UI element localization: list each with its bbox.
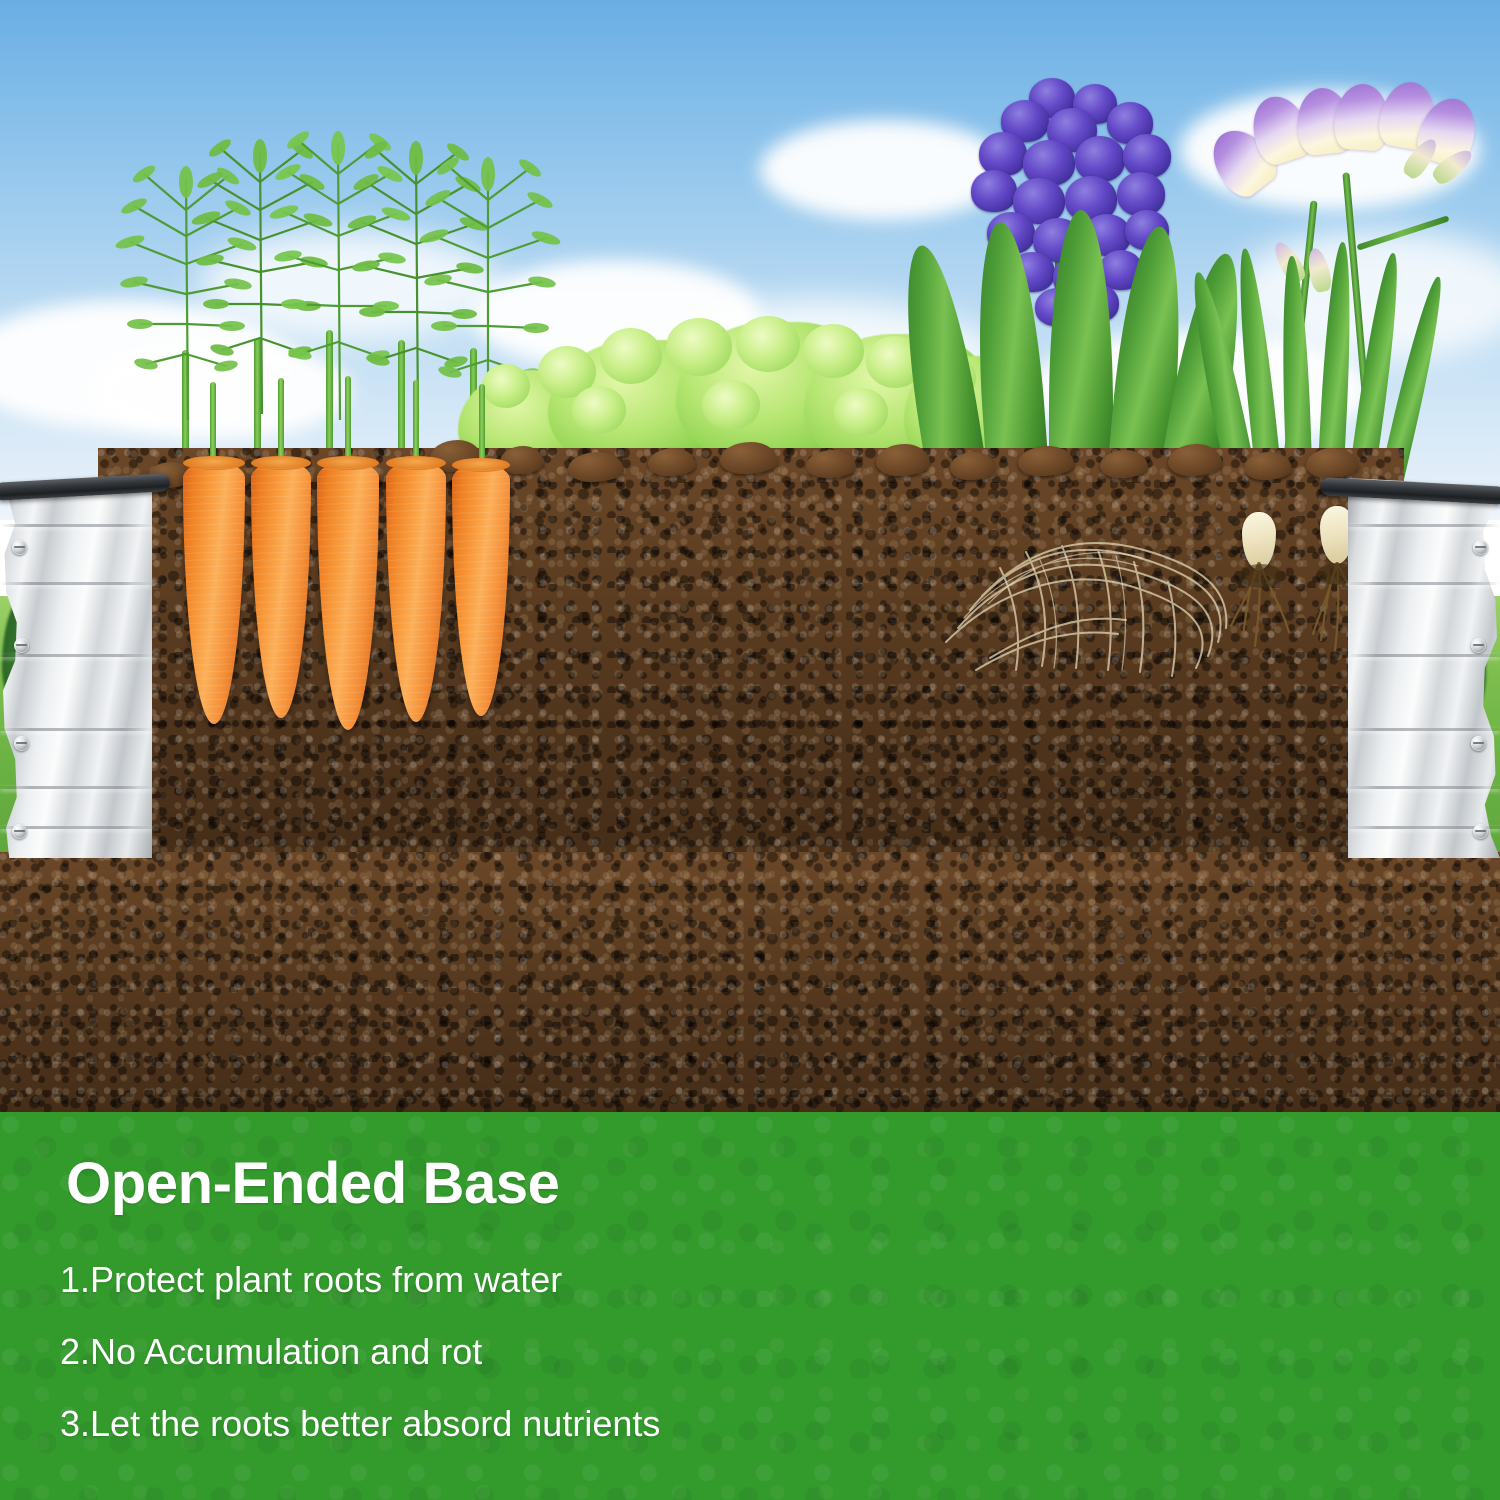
hyacinth-floret: [1075, 136, 1125, 182]
hyacinth-floret: [979, 132, 1027, 176]
soil-crumb: [1244, 452, 1292, 480]
panel-surface: [1348, 478, 1500, 858]
product-feature-image: Open-Ended Base 1.Protect plant roots fr…: [0, 0, 1500, 1500]
panel-rib: [0, 728, 152, 731]
panel-rib: [1348, 524, 1500, 527]
carrot-stem: [413, 380, 419, 466]
panel-rib: [1348, 786, 1500, 789]
panel-rib: [1348, 582, 1500, 585]
lettuce-frill: [802, 324, 864, 378]
panel-screw: [1473, 540, 1488, 555]
freesia-plant: [1205, 80, 1495, 500]
soil-crumb: [1306, 448, 1358, 478]
benefit-item-2: 2.No Accumulation and rot: [60, 1334, 1360, 1370]
lettuce-frill: [702, 380, 760, 430]
lettuce-frill: [834, 388, 888, 436]
carrot-crown: [386, 456, 446, 470]
carrot-stem: [479, 384, 485, 466]
freesia-bud: [1305, 246, 1334, 293]
hyacinth-floret: [1123, 134, 1171, 178]
lettuce-frill: [736, 316, 800, 372]
soil-crumb: [1168, 444, 1222, 476]
fibrous-root-mass: [930, 510, 1260, 690]
panel-rib: [0, 654, 152, 657]
panel-rib: [1348, 728, 1500, 731]
lettuce-frill: [572, 386, 626, 434]
benefit-item-3: 3.Let the roots better absord nutrients: [60, 1406, 1360, 1442]
panel-rib: [0, 582, 152, 585]
carrot-crown: [317, 456, 379, 470]
soil-crumb: [1100, 450, 1148, 478]
soil-crumb: [950, 452, 996, 480]
garden-bed-scene: [0, 0, 1500, 1112]
soil-crumb: [720, 442, 778, 474]
carrot-stem: [345, 376, 351, 466]
page-title: Open-Ended Base: [66, 1155, 560, 1213]
lettuce-frill: [666, 318, 732, 376]
hyacinth-floret: [971, 170, 1017, 212]
panel-screw: [14, 638, 29, 653]
panel-screw: [14, 736, 29, 751]
panel-rib: [0, 524, 152, 527]
metal-planter-left-panel: [0, 478, 152, 858]
carrot-crown: [452, 458, 510, 472]
carrot-stem: [278, 378, 284, 466]
panel-screw: [1471, 736, 1486, 751]
lettuce-frill: [600, 328, 662, 384]
panel-rib: [1348, 654, 1500, 657]
hyacinth-floret: [1117, 172, 1165, 216]
soil-crumb: [806, 450, 856, 478]
carrot-crown: [183, 456, 245, 470]
panel-rib: [0, 786, 152, 789]
benefit-item-1: 1.Protect plant roots from water: [60, 1262, 1360, 1298]
benefits-list: 1.Protect plant roots from water 2.No Ac…: [60, 1262, 1360, 1478]
panel-screw: [1473, 824, 1488, 839]
lettuce-frill: [482, 364, 530, 408]
soil-crumb: [500, 446, 544, 474]
panel-screw: [1471, 638, 1486, 653]
carrot-stem: [210, 382, 216, 466]
soil-crumb: [648, 448, 696, 476]
ground-soil: [0, 852, 1500, 1112]
panel-screw: [12, 540, 27, 555]
metal-planter-right-panel: [1348, 478, 1500, 858]
freesia-stem: [1356, 215, 1449, 250]
soil-crumb: [876, 444, 930, 476]
carrot-crown: [251, 456, 311, 470]
hyacinth-plant: [905, 78, 1235, 498]
panel-screw: [12, 824, 27, 839]
soil-crumb: [568, 452, 624, 482]
soil-crumb: [1018, 446, 1074, 476]
panel-surface: [0, 478, 152, 858]
